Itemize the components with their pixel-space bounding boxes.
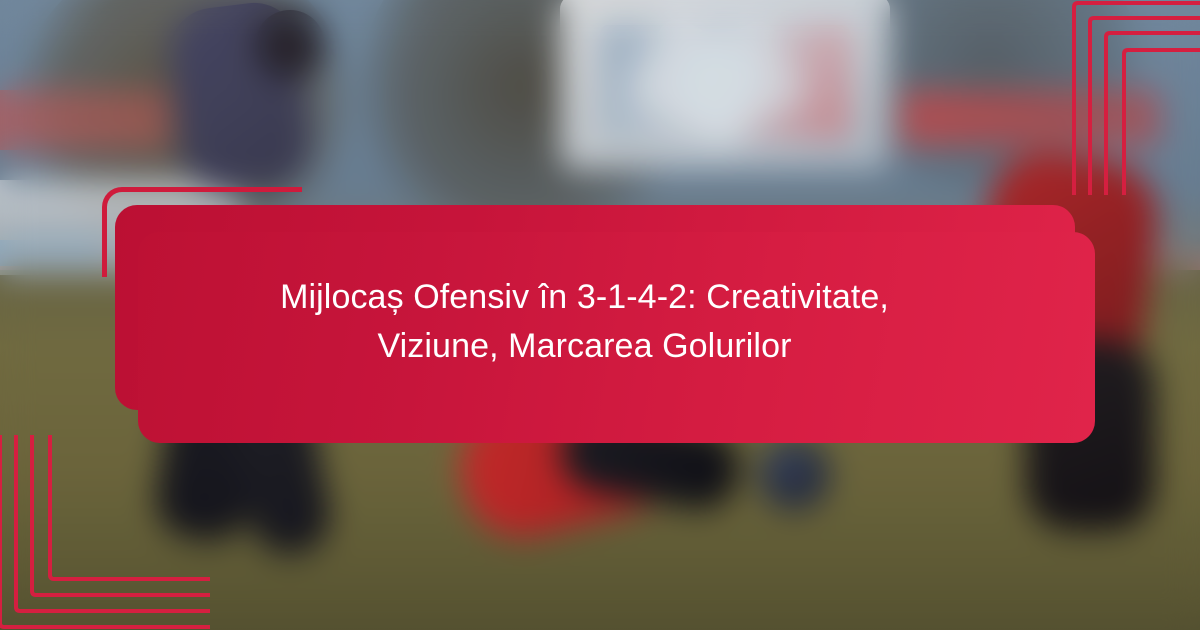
page-title-line-1: Mijlocaș Ofensiv în 3-1-4-2: Creativitat… [280,278,889,316]
page-title: Mijlocaș Ofensiv în 3-1-4-2: Creativitat… [106,273,1063,370]
share-card-canvas: Mijlocaș Ofensiv în 3-1-4-2: Creativitat… [0,0,1200,630]
page-title-line-2: Viziune, Marcarea Golurilor [377,327,791,365]
headline-card: Mijlocaș Ofensiv în 3-1-4-2: Creativitat… [138,232,1095,443]
